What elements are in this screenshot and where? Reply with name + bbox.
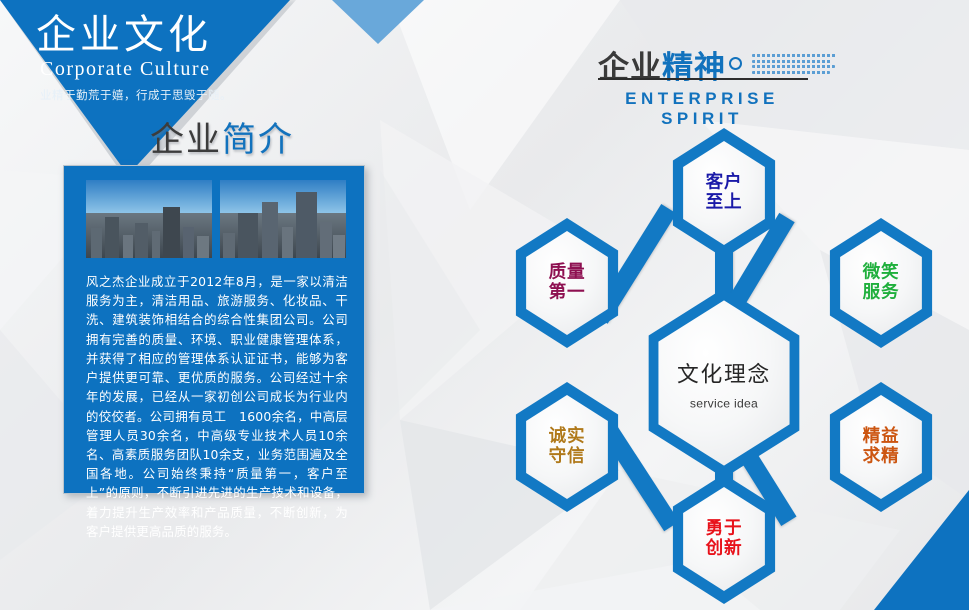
hex-node-upper-left[interactable]: 质量 第一 (508, 218, 626, 348)
hex-center-label-cn: 文化理念 (677, 356, 771, 387)
intro-title-dark: 企业 (150, 120, 222, 160)
hex-node-upper-left-label: 质量 第一 (549, 263, 586, 302)
culture-hexagon-diagram: 文化理念 service idea 客户 至上 质量 第一 微笑 服务 诚实 守 (480, 110, 969, 610)
spirit-title-blue: 精神 (662, 50, 726, 86)
company-intro-text: 风之杰企业成立于2012年8月，是一家以清洁服务为主，清洁用品、旅游服务、化妆品… (86, 272, 348, 541)
corporate-culture-header: 企业文化 Corporate Culture 业精于勤荒于嬉，行成于思毁于随。 (36, 14, 232, 103)
hex-center-culture-concept[interactable]: 文化理念 service idea (637, 288, 811, 478)
hex-node-upper-right-label: 微笑 服务 (863, 263, 900, 302)
spirit-title-dark: 企业 (598, 50, 662, 86)
company-intro-card: 风之杰企业成立于2012年8月，是一家以清洁服务为主，清洁用品、旅游服务、化妆品… (63, 165, 365, 494)
hex-node-lower-right[interactable]: 精益 求精 (822, 382, 940, 512)
header-subtitle: 业精于勤荒于嬉，行成于思毁于随。 (40, 87, 232, 103)
decorative-microtext (752, 54, 838, 76)
hex-node-lower-right-label: 精益 求精 (863, 427, 900, 466)
hex-node-top-label: 客户 至上 (706, 173, 743, 212)
header-title-cn: 企业文化 (36, 14, 232, 56)
card-photo-strip (86, 180, 346, 258)
hex-center-label-en: service idea (690, 396, 758, 410)
hex-node-upper-right[interactable]: 微笑 服务 (822, 218, 940, 348)
enterprise-spirit-header: 企业精神 ENTERPRISE SPIRIT (598, 52, 848, 129)
spirit-title-en: ENTERPRISE SPIRIT (598, 89, 806, 129)
photo-cityscape-1 (86, 180, 212, 258)
intro-title-blue: 简介 (222, 120, 294, 160)
poster-canvas: 企业文化 Corporate Culture 业精于勤荒于嬉，行成于思毁于随。 … (0, 0, 969, 610)
hex-node-lower-left[interactable]: 诚实 守信 (508, 382, 626, 512)
header-title-en: Corporate Culture (40, 58, 232, 81)
hex-node-bottom-label: 勇于 创新 (706, 519, 743, 558)
spirit-dot-icon (729, 57, 742, 70)
intro-section-title: 企业简介 (150, 112, 294, 161)
photo-cityscape-2 (220, 180, 346, 258)
hex-node-lower-left-label: 诚实 守信 (549, 427, 586, 466)
spirit-underline (598, 78, 808, 80)
